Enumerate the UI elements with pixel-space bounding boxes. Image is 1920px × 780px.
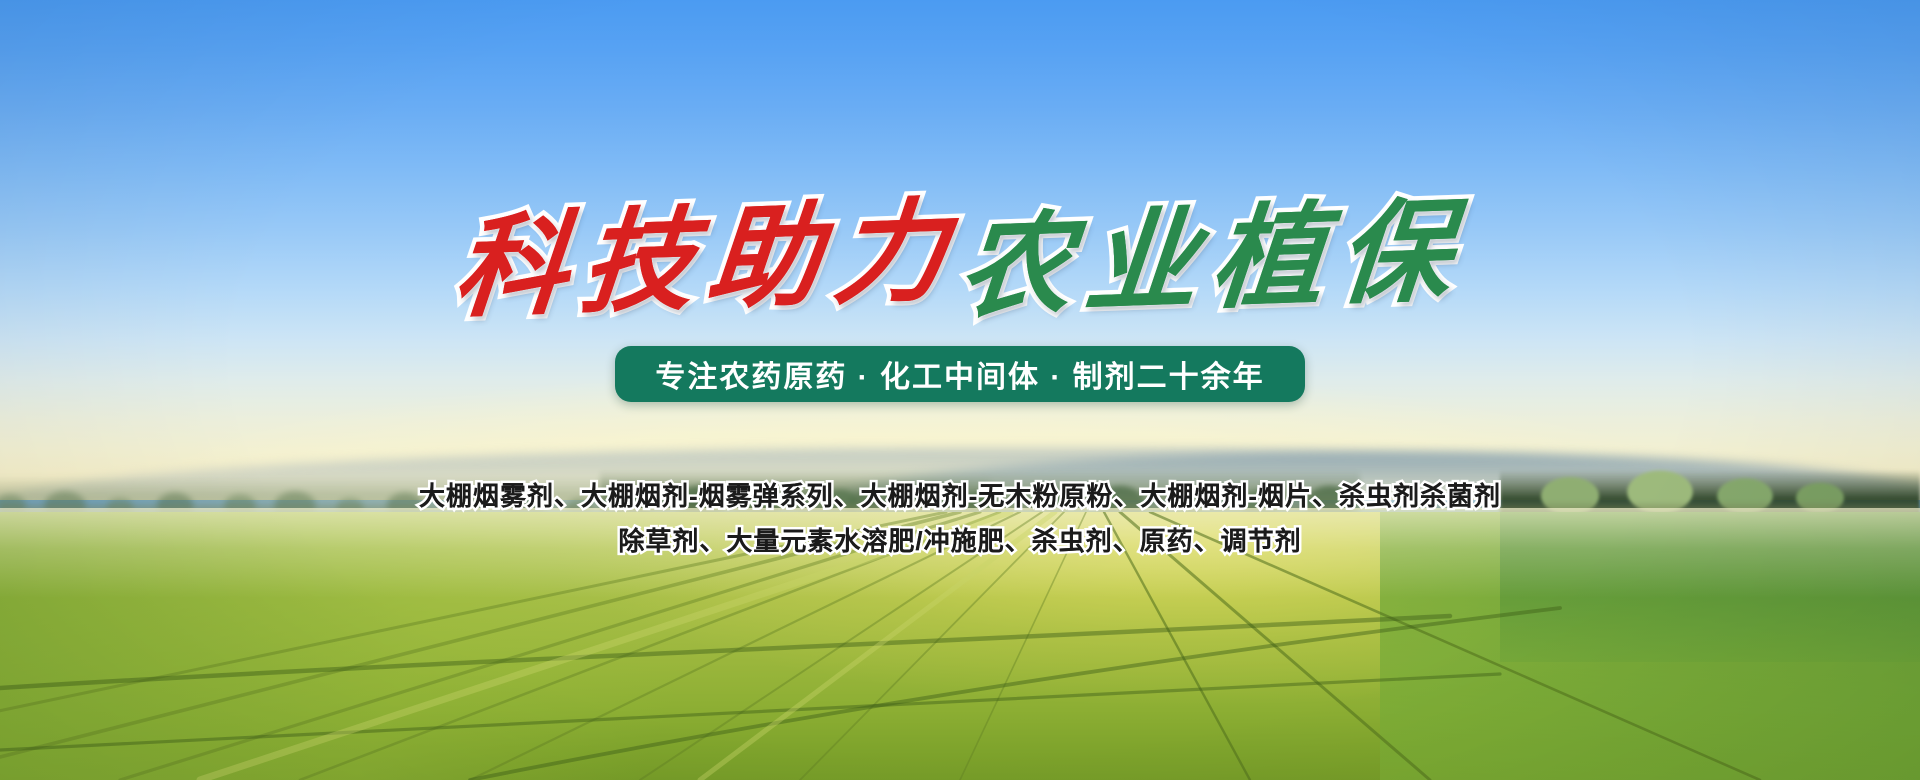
headline-segment-green: 农业植保农业植保 — [954, 195, 1470, 325]
subtitle-pill-text: 专注农药原药 · 化工中间体 · 制剂二十余年 — [655, 352, 1264, 396]
product-line-1: 大棚烟雾剂、大棚烟剂-烟雾弹系列、大棚烟剂-无木粉原粉、大棚烟剂-烟片、杀虫剂杀… — [419, 476, 1501, 513]
product-line-1-fill: 大棚烟雾剂、大棚烟剂-烟雾弹系列、大棚烟剂-无木粉原粉、大棚烟剂-烟片、杀虫剂杀… — [419, 476, 1501, 513]
headline-segment-green-fill: 农业植保 — [954, 195, 1470, 325]
product-line-2-fill: 除草剂、大量元素水溶肥/冲施肥、杀虫剂、原药、调节剂 — [419, 521, 1501, 558]
product-line-2: 除草剂、大量元素水溶肥/冲施肥、杀虫剂、原药、调节剂除草剂、大量元素水溶肥/冲施… — [419, 521, 1501, 558]
headline-segment-red-fill: 科技助力 — [450, 195, 966, 325]
product-lines: 大棚烟雾剂、大棚烟剂-烟雾弹系列、大棚烟剂-无木粉原粉、大棚烟剂-烟片、杀虫剂杀… — [419, 476, 1501, 566]
banner-content: 科技助力科技助力 农业植保农业植保 专注农药原药 · 化工中间体 · 制剂二十余… — [0, 0, 1920, 780]
subtitle-pill: 专注农药原药 · 化工中间体 · 制剂二十余年 — [615, 346, 1304, 402]
hero-banner: 科技助力科技助力 农业植保农业植保 专注农药原药 · 化工中间体 · 制剂二十余… — [0, 0, 1920, 780]
headline-segment-red: 科技助力科技助力 — [450, 195, 966, 325]
headline: 科技助力科技助力 农业植保农业植保 — [456, 204, 1464, 316]
